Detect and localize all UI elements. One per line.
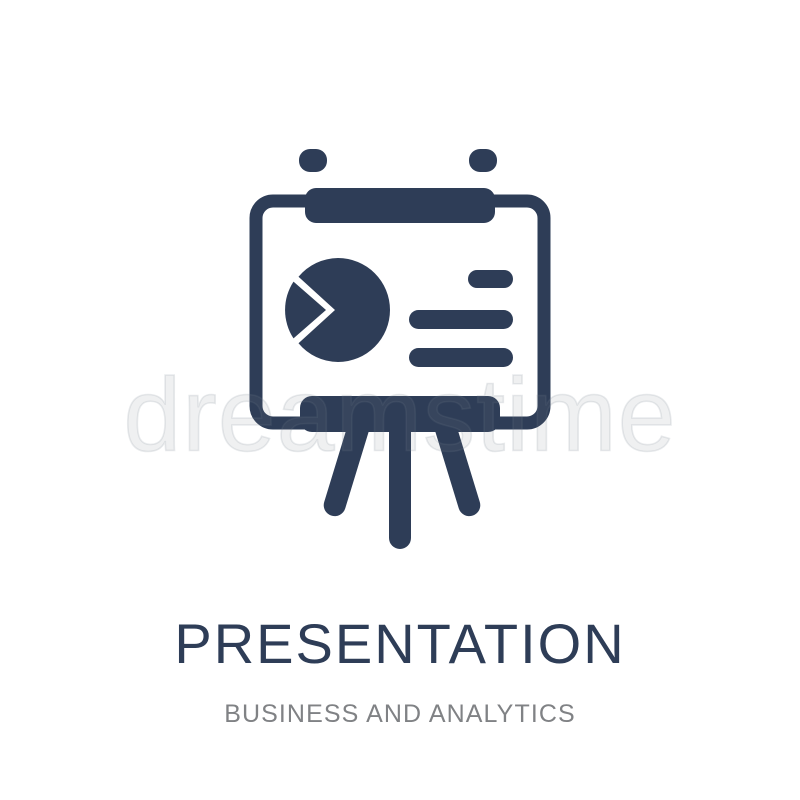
board-text-line-middle (409, 310, 513, 329)
easel-leg-center (389, 413, 411, 549)
presentation-icon (0, 0, 800, 620)
board-peg-left (299, 149, 327, 172)
board-top-clamp-bar (305, 188, 495, 223)
presentation-icon-svg (0, 0, 800, 620)
icon-card: dreamstime PRESENTATION BUSINESS AND ANA… (0, 0, 800, 800)
caption: PRESENTATION BUSINESS AND ANALYTICS (0, 612, 800, 729)
board-text-line-short (468, 270, 513, 288)
page-subtitle: BUSINESS AND ANALYTICS (0, 699, 800, 729)
pie-chart-graphic (285, 258, 390, 362)
board-peg-right (469, 149, 497, 172)
board-bottom-clamp-bar (300, 396, 500, 432)
page-title: PRESENTATION (0, 612, 800, 677)
board-text-line-bottom (409, 348, 513, 367)
